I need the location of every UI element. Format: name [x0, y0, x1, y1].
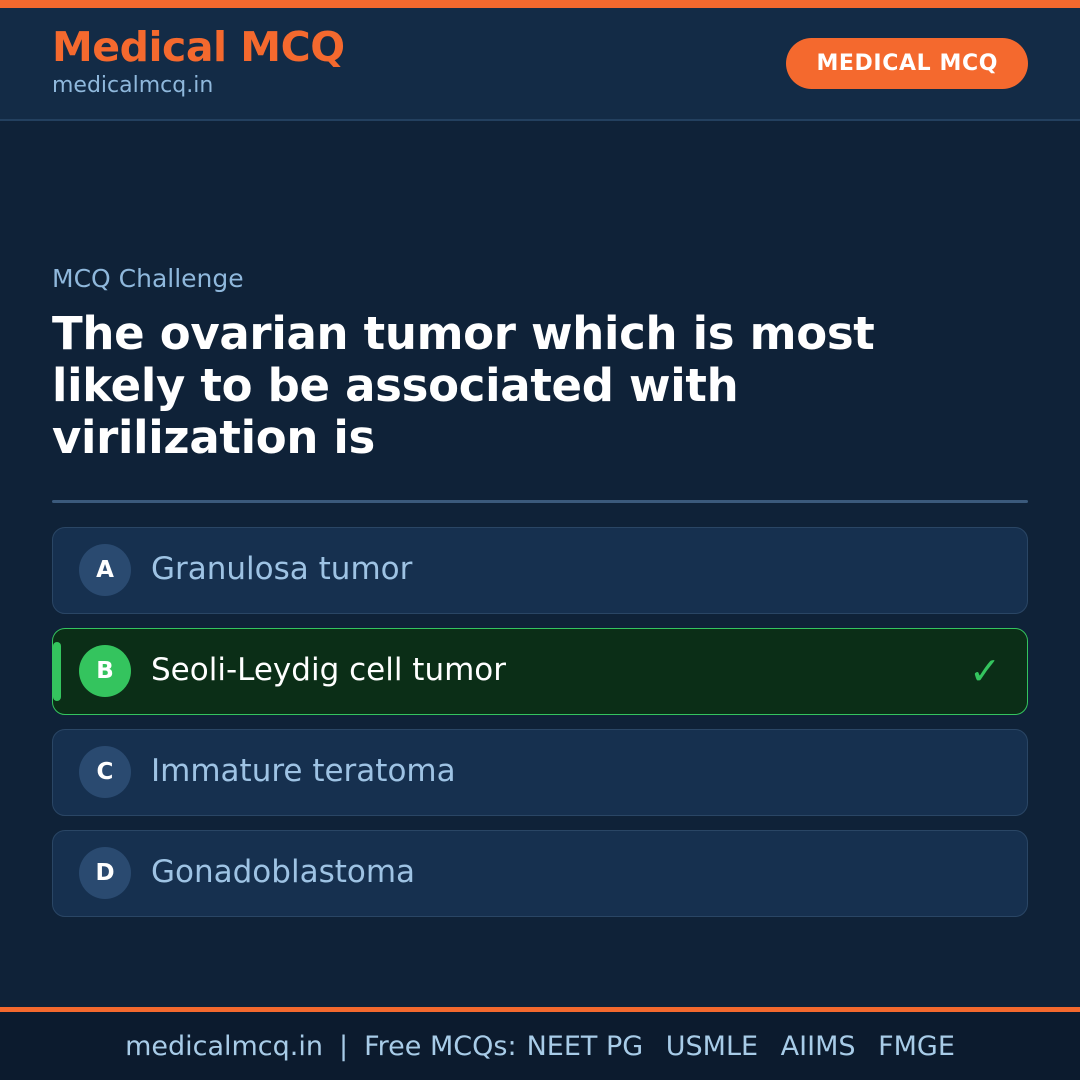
- option-a[interactable]: A Granulosa tumor: [52, 527, 1028, 614]
- brand-title: Medical MCQ: [52, 26, 345, 69]
- footer-exam-list: NEET PG USMLE AIIMS FMGE: [517, 1031, 955, 1062]
- option-d[interactable]: D Gonadoblastoma: [52, 830, 1028, 917]
- option-c-letter: C: [79, 746, 131, 798]
- option-c[interactable]: C Immature teratoma: [52, 729, 1028, 816]
- option-d-label: Gonadoblastoma: [151, 854, 415, 891]
- footer-exam-usmle: USMLE: [666, 1031, 758, 1062]
- footer-separator: |: [323, 1031, 364, 1062]
- section-kicker: MCQ Challenge: [52, 264, 1028, 294]
- brand-badge: MEDICAL MCQ: [786, 38, 1028, 89]
- option-d-letter: D: [79, 847, 131, 899]
- page-footer: medicalmcq.in | Free MCQs: NEET PG USMLE…: [0, 1007, 1080, 1080]
- checkmark-icon: ✓: [969, 652, 1001, 690]
- option-c-label: Immature teratoma: [151, 753, 456, 790]
- footer-exam-aiims: AIIMS: [781, 1031, 856, 1062]
- top-accent-rule: [0, 0, 1080, 8]
- option-b-label: Seoli-Leydig cell tumor: [151, 652, 506, 689]
- footer-prefix: Free MCQs:: [364, 1031, 516, 1062]
- brand-block: Medical MCQ medicalmcq.in: [52, 26, 345, 101]
- option-a-label: Granulosa tumor: [151, 551, 412, 588]
- main-content: MCQ Challenge The ovarian tumor which is…: [0, 121, 1080, 1007]
- option-b[interactable]: B Seoli-Leydig cell tumor ✓: [52, 628, 1028, 715]
- footer-site: medicalmcq.in: [125, 1031, 323, 1062]
- question-divider: [52, 500, 1028, 503]
- page-header: Medical MCQ medicalmcq.in MEDICAL MCQ: [0, 8, 1080, 121]
- option-a-letter: A: [79, 544, 131, 596]
- footer-exam-fmge: FMGE: [878, 1031, 955, 1062]
- mcq-card: Medical MCQ medicalmcq.in MEDICAL MCQ MC…: [0, 0, 1080, 1080]
- options-list: A Granulosa tumor B Seoli-Leydig cell tu…: [52, 527, 1028, 917]
- footer-exam-neet-pg: NEET PG: [527, 1031, 644, 1062]
- option-b-letter: B: [79, 645, 131, 697]
- brand-subtitle: medicalmcq.in: [52, 72, 345, 101]
- question-text: The ovarian tumor which is most likely t…: [52, 308, 1012, 465]
